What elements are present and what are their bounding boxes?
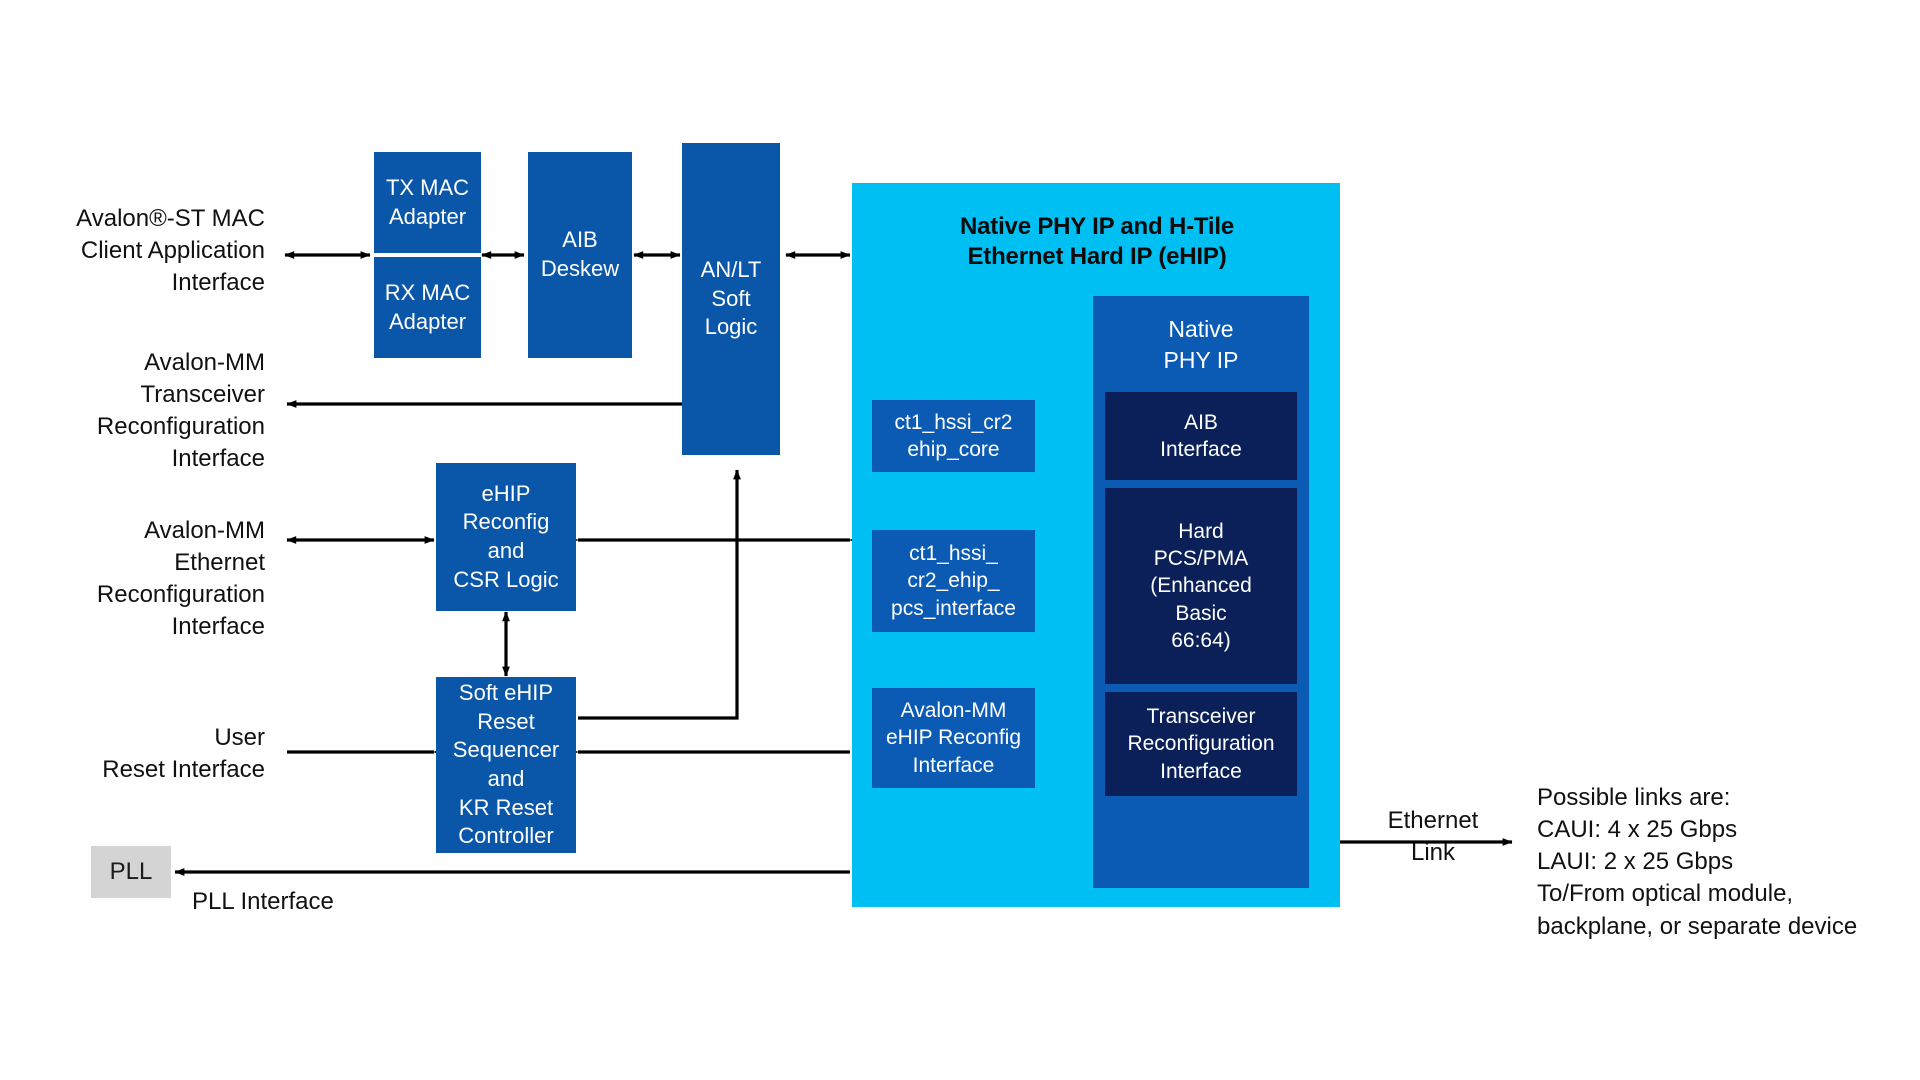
annotation-possible-links: Possible links are: CAUI: 4 x 25 Gbps LA… [1537,782,1917,943]
label-pll-interface: PLL Interface [192,886,452,918]
block-ehip-reconfig-and-csr-logic[interactable]: eHIP Reconfig and CSR Logic [436,463,576,611]
label-avalon-mm-transceiver-reconfiguration-interface: Avalon-MM Transceiver Reconfiguration In… [40,347,265,476]
label-avalon-mm-ethernet-reconfiguration-interface: Avalon-MM Ethernet Reconfiguration Inter… [40,515,265,644]
block-tx-mac-adapter[interactable]: TX MAC Adapter [374,152,481,253]
block-aib-deskew[interactable]: AIB Deskew [528,152,632,358]
native-phy-ip-title: Native PHY IP [1093,314,1309,376]
block-rx-mac-adapter[interactable]: RX MAC Adapter [374,257,481,358]
block-transceiver-reconfiguration-interface[interactable]: Transceiver Reconfiguration Interface [1105,692,1297,796]
block-hard-pcs-pma[interactable]: Hard PCS/PMA (Enhanced Basic 66:64) [1105,488,1297,684]
block-ct1-hssi-cr2-ehip-pcs-interface[interactable]: ct1_hssi_ cr2_ehip_ pcs_interface [872,530,1035,632]
label-avalon-st-mac-client-application-interface: Avalon®-ST MAC Client Application Interf… [40,203,265,299]
block-anlt-soft-logic[interactable]: AN/LT Soft Logic [682,143,780,455]
block-ct1-hssi-cr2-ehip-core[interactable]: ct1_hssi_cr2 ehip_core [872,400,1035,472]
label-ethernet-link: Ethernet Link [1368,805,1498,869]
block-soft-ehip-reset-sequencer-and-kr-reset-controller[interactable]: Soft eHIP Reset Sequencer and KR Reset C… [436,677,576,853]
block-pll[interactable]: PLL [91,846,171,898]
diagram-canvas: Avalon®-ST MAC Client Application Interf… [0,0,1920,1080]
block-aib-interface[interactable]: AIB Interface [1105,392,1297,480]
block-avalon-mm-ehip-reconfig-interface[interactable]: Avalon-MM eHIP Reconfig Interface [872,688,1035,788]
container-header-native-phy-ip-ehip: Native PHY IP and H-Tile Ethernet Hard I… [872,212,1322,272]
label-user-reset-interface: User Reset Interface [40,722,265,786]
